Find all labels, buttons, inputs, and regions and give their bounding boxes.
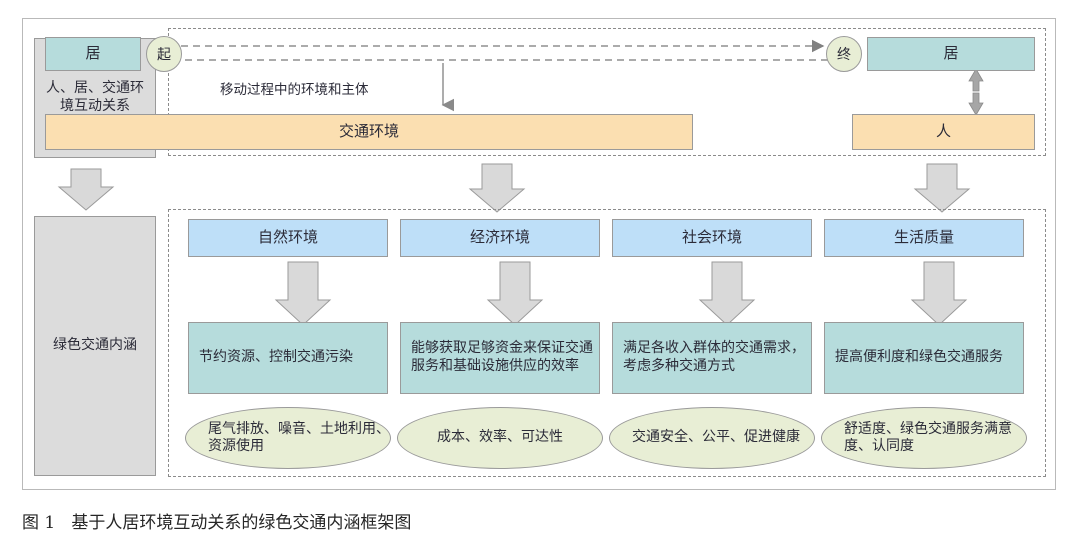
column-indicators-label: 交通安全、公平、促进健康 <box>632 429 800 447</box>
origin-residence-label: 居 <box>85 44 100 63</box>
column-heading-social-environment: 社会环境 <box>612 219 812 257</box>
destination-token-label: 终 <box>837 44 851 64</box>
sidebar-item-label: 绿色交通内涵 <box>53 337 137 355</box>
column-description-label: 满足各收入群体的交通需求，考虑多种交通方式 <box>623 340 811 376</box>
sidebar-item-green-transport-connotation: 绿色交通内涵 <box>34 216 156 476</box>
column-indicators-label: 尾气排放、噪音、土地利用、资源使用 <box>208 421 390 456</box>
column-heading-label: 自然环境 <box>258 228 318 247</box>
sidebar-item-label: 人、居、交通环境互动关系 <box>45 80 145 116</box>
destination-residence-box: 居 <box>867 37 1035 71</box>
column-description-quality-of-life: 提高便利度和绿色交通服务 <box>824 322 1024 394</box>
origin-residence-box: 居 <box>45 37 141 71</box>
column-heading-natural-environment: 自然环境 <box>188 219 388 257</box>
column-indicators-economic-environment: 成本、效率、可达性 <box>397 407 603 469</box>
column-heading-label: 经济环境 <box>470 228 530 247</box>
column-description-label: 能够获取足够资金来保证交通服务和基础设施供应的效率 <box>411 340 599 376</box>
column-indicators-quality-of-life: 舒适度、绿色交通服务满意度、认同度 <box>821 407 1027 469</box>
column-indicators-label: 舒适度、绿色交通服务满意度、认同度 <box>844 421 1026 456</box>
person-label: 人 <box>936 122 951 141</box>
figure-caption: 图 1 基于人居环境互动关系的绿色交通内涵框架图 <box>22 508 411 533</box>
column-description-economic-environment: 能够获取足够资金来保证交通服务和基础设施供应的效率 <box>400 322 600 394</box>
person-box: 人 <box>852 114 1035 150</box>
destination-token: 终 <box>826 36 862 72</box>
figure-frame: 人、居、交通环境互动关系 绿色交通内涵 居 起 终 居 移动过程中的环境和主体 … <box>22 18 1056 490</box>
column-indicators-social-environment: 交通安全、公平、促进健康 <box>609 407 815 469</box>
column-heading-quality-of-life: 生活质量 <box>824 219 1024 257</box>
column-description-natural-environment: 节约资源、控制交通污染 <box>188 322 388 394</box>
column-indicators-natural-environment: 尾气排放、噪音、土地利用、资源使用 <box>185 407 391 469</box>
column-description-label: 提高便利度和绿色交通服务 <box>835 349 1003 367</box>
column-description-label: 节约资源、控制交通污染 <box>199 349 353 367</box>
transport-environment-box: 交通环境 <box>45 114 693 150</box>
column-description-social-environment: 满足各收入群体的交通需求，考虑多种交通方式 <box>612 322 812 394</box>
column-heading-label: 生活质量 <box>894 228 954 247</box>
column-indicators-label: 成本、效率、可达性 <box>437 429 563 447</box>
column-heading-economic-environment: 经济环境 <box>400 219 600 257</box>
origin-token: 起 <box>146 36 182 72</box>
transit-process-label: 移动过程中的环境和主体 <box>220 78 450 98</box>
transport-environment-label: 交通环境 <box>339 122 399 141</box>
column-heading-label: 社会环境 <box>682 228 742 247</box>
destination-residence-label: 居 <box>943 44 958 63</box>
origin-token-label: 起 <box>157 44 171 64</box>
